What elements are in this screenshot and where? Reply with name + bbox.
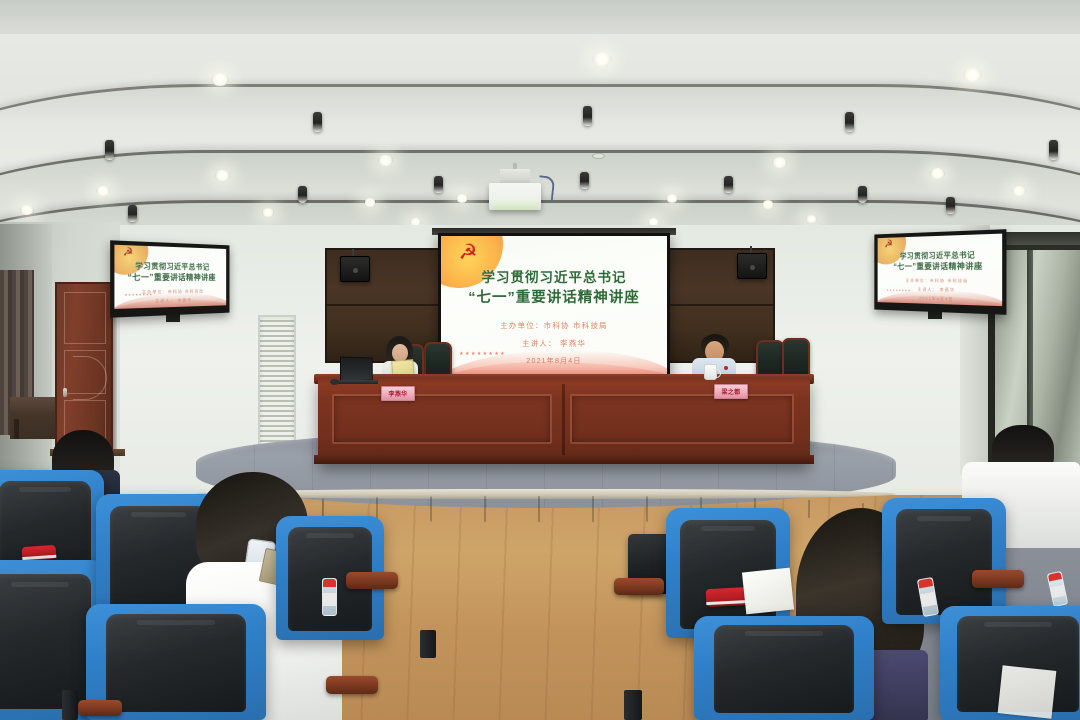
desk-panel <box>570 394 794 444</box>
track-spotlight-icon <box>583 106 592 126</box>
laptop-icon[interactable] <box>340 357 373 382</box>
recessed-downlight-icon <box>364 198 376 207</box>
computer-mouse-icon[interactable] <box>330 379 339 385</box>
red-thermos-icon <box>22 545 57 561</box>
recessed-downlight-icon <box>96 186 110 196</box>
presentation-slide: ☭ 学习贯彻习近平总书记 “七一”重要讲话精神讲座 主办单位：市科协 市科技局 … <box>114 245 226 309</box>
recessed-downlight-icon <box>963 68 982 82</box>
nameplate-left: 李燕华 <box>381 386 415 401</box>
bottle-cap <box>1048 572 1062 582</box>
recessed-downlight-icon <box>215 170 230 181</box>
wooden-door-icon[interactable] <box>55 282 113 452</box>
desk-panel <box>332 394 552 444</box>
slide-speaker: 主讲人： 李燕华 <box>441 338 667 349</box>
track-spotlight-icon <box>128 205 137 222</box>
slide-title-line1: 学习贯彻习近平总书记 <box>441 268 667 288</box>
document-paper <box>742 568 794 615</box>
ceiling-top-strip <box>0 0 1080 34</box>
slide-organizer: 主办单位：市科协 市科技局 <box>878 278 1003 285</box>
track-spotlight-icon <box>1049 140 1058 160</box>
desk-seam <box>562 384 565 460</box>
seat-leg <box>624 690 642 720</box>
track-spotlight-icon <box>105 140 114 160</box>
seat-armrest <box>326 676 378 694</box>
recessed-downlight-icon <box>806 215 817 223</box>
ceiling-projector-icon <box>489 183 541 210</box>
lecture-hall-photo: ☭ 学习贯彻习近平总书记 “七一”重要讲话精神讲座 主办单位：市科协 市科技局 … <box>0 0 1080 720</box>
wall-monitor-icon: ☭ 学习贯彻习近平总书记 “七一”重要讲话精神讲座 主办单位：市科协 市科技局 … <box>110 240 229 317</box>
bottle-cap <box>918 578 933 588</box>
wall-speaker-icon <box>340 256 370 282</box>
slide-title-line2: “七一”重要讲话精神讲座 <box>878 260 1003 272</box>
seat-armrest <box>614 578 664 595</box>
party-hammer-sickle-icon: ☭ <box>122 246 134 259</box>
seat-panel <box>896 509 993 615</box>
seat-leg <box>420 630 436 658</box>
party-hammer-sickle-icon: ☭ <box>457 242 479 264</box>
recessed-downlight-icon <box>930 168 945 179</box>
bottle-label <box>323 593 336 605</box>
recessed-downlight-icon <box>211 73 229 86</box>
wall-monitor-icon: ☭ 学习贯彻习近平总书记 “七一”重要讲话精神讲座 主办单位：市科协 市科技局 … <box>874 229 1006 315</box>
bottle-label <box>1050 585 1065 598</box>
auditorium-seat[interactable] <box>694 616 874 720</box>
slide-title-line2: “七一”重要讲话精神讲座 <box>114 272 226 284</box>
nameplate-right: 梁之都 <box>714 384 748 399</box>
bottle-cap <box>323 579 336 587</box>
thermos-band <box>706 600 750 606</box>
slide-title-line1: 学习贯彻习近平总书记 <box>114 260 226 273</box>
recessed-downlight-icon <box>378 155 393 166</box>
track-spotlight-icon <box>298 186 307 203</box>
document-paper <box>998 665 1057 718</box>
track-spotlight-icon <box>858 186 867 203</box>
projector-lens-icon <box>493 201 537 210</box>
track-spotlight-icon <box>845 112 854 132</box>
recessed-downlight-icon <box>762 200 774 209</box>
recessed-downlight-icon <box>20 205 34 215</box>
track-spotlight-icon <box>946 197 955 214</box>
seat-armrest <box>78 700 122 716</box>
track-spotlight-icon <box>313 112 322 132</box>
door-handle-icon[interactable] <box>63 388 67 397</box>
party-hammer-sickle-icon: ☭ <box>884 238 894 250</box>
seat-panel <box>0 574 91 708</box>
seat-armrest <box>346 572 398 589</box>
tea-cup-icon <box>704 364 717 380</box>
recessed-downlight-icon <box>666 194 678 203</box>
water-bottle-icon <box>322 578 337 616</box>
panel-seam <box>657 304 773 306</box>
recessed-downlight-icon <box>1012 186 1026 196</box>
track-spotlight-icon <box>724 176 733 193</box>
seat-panel <box>714 625 854 712</box>
party-badge-icon <box>724 366 728 370</box>
seat-armrest <box>972 570 1024 588</box>
desk-kickplate <box>314 455 814 464</box>
recessed-downlight-icon <box>262 208 274 217</box>
track-spotlight-icon <box>434 176 443 193</box>
wall-speaker-icon <box>737 253 767 279</box>
ventilation-grille-icon <box>258 315 296 455</box>
door-panel <box>64 292 106 344</box>
presentation-slide: ☭ 学习贯彻习近平总书记 “七一”重要讲话精神讲座 主办单位：市科协 市科技局 … <box>878 234 1003 307</box>
presentation-slide: ☭ 学习贯彻习近平总书记 “七一”重要讲话精神讲座 主办单位：市科协 市科技局 … <box>441 236 667 378</box>
track-spotlight-icon <box>580 172 589 189</box>
recessed-downlight-icon <box>592 52 612 66</box>
bottle-label <box>920 592 936 606</box>
slide-organizer: 主办单位：市科协 市科技局 <box>441 320 667 331</box>
laptop-keyboard[interactable] <box>336 380 378 384</box>
recessed-downlight-icon <box>772 157 787 168</box>
smoke-detector-icon <box>592 153 605 159</box>
panel-seam <box>327 304 451 306</box>
slide-title-line2: “七一”重要讲话精神讲座 <box>441 288 667 308</box>
projection-screen-icon: ☭ 学习贯彻习近平总书记 “七一”重要讲话精神讲座 主办单位：市科协 市科技局 … <box>438 233 670 381</box>
seat-panel <box>106 614 246 711</box>
seat-leg <box>62 690 78 720</box>
executive-chair[interactable] <box>782 338 810 378</box>
recessed-downlight-icon <box>456 194 468 203</box>
